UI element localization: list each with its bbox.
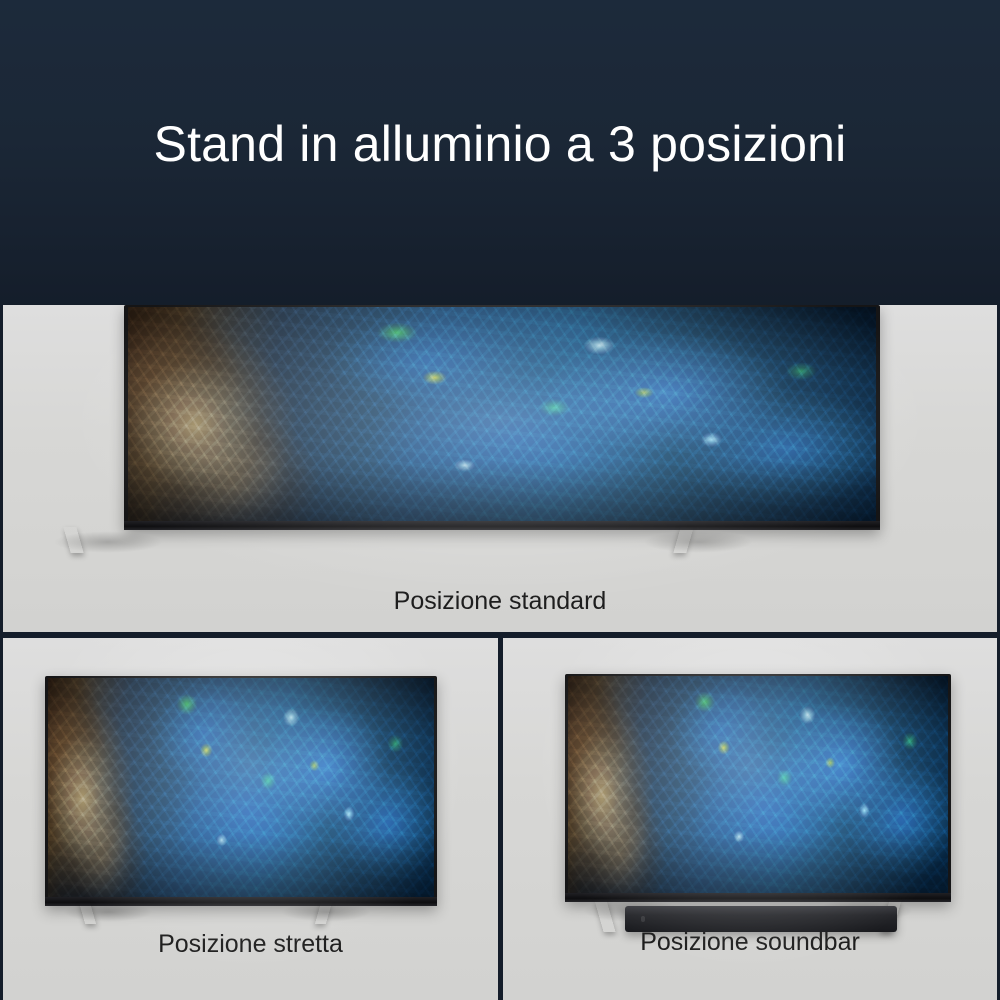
panel-narrow: Posizione stretta [3,638,498,1000]
tv-standard [124,305,880,530]
tv-soundbar [565,674,951,902]
tv-screen-standard [128,307,876,521]
caption-soundbar: Posizione soundbar [503,928,997,957]
screen-image-shading-bottom [568,676,948,893]
divider-vertical [498,638,503,1000]
tv-screen-narrow [48,678,434,897]
tv-chin [124,521,880,530]
tv-screen-soundbar [568,676,948,893]
caption-narrow: Posizione stretta [3,930,498,959]
page-title: Stand in alluminio a 3 posizioni [0,118,1000,171]
tv-narrow [45,676,437,906]
panel-standard: Posizione standard [3,305,997,632]
hero-banner: Stand in alluminio a 3 posizioni [0,0,1000,312]
caption-standard: Posizione standard [3,587,997,616]
leg-shadow-right [643,531,753,553]
product-feature-graphic: Stand in alluminio a 3 posizioni Posizio… [0,0,1000,1000]
leg-shadow-left [63,902,153,922]
panel-soundbar: Posizione soundbar [503,638,997,1000]
screen-image-shading-bottom [48,678,434,897]
frame-edge-left [0,305,3,1000]
screen-image-shading-bottom [128,307,876,521]
